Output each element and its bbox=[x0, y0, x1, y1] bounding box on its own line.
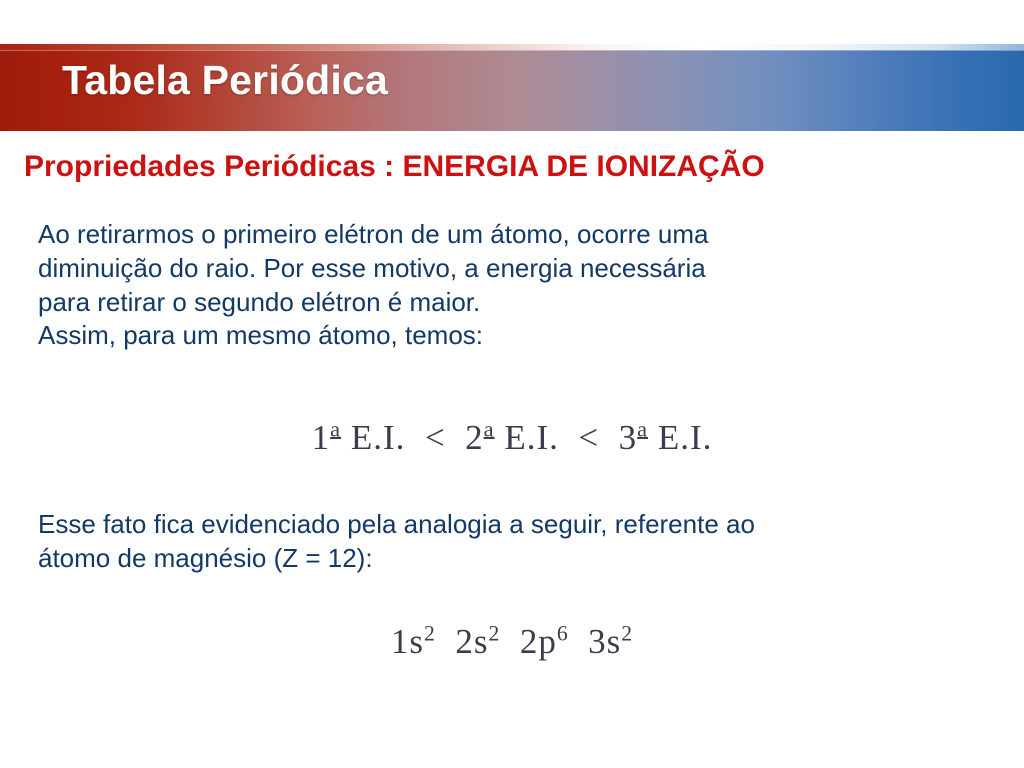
body-text-block-1: Ao retirarmos o primeiro elétron de um á… bbox=[38, 218, 988, 353]
orbital-4-base: 3s bbox=[588, 622, 621, 661]
paragraph-evidencia-line-2: átomo de magnésio (Z = 12): bbox=[38, 542, 988, 576]
ei-term-2-ordinal: a bbox=[484, 416, 495, 441]
paragraph-line-2: diminuição do raio. Por esse motivo, a e… bbox=[38, 252, 988, 286]
orbital-2-exponent: 2 bbox=[488, 621, 500, 645]
formula-ionization-energy: 1a E.I. < 2a E.I. < 3a E.I. bbox=[0, 418, 1024, 458]
slide-root: Tabela Periódica Propriedades Periódicas… bbox=[0, 0, 1024, 768]
orbital-3-exponent: 6 bbox=[557, 621, 569, 645]
ei-term-2-number: 2 bbox=[465, 418, 484, 457]
paragraph-assim: Assim, para um mesmo átomo, temos: bbox=[38, 319, 988, 353]
ei-operator-2: < bbox=[578, 418, 599, 457]
page-title: Tabela Periódica bbox=[62, 60, 388, 101]
ei-term-1-ordinal: a bbox=[330, 416, 341, 441]
orbital-1-exponent: 2 bbox=[424, 621, 436, 645]
ei-term-1-number: 1 bbox=[312, 418, 331, 457]
ei-term-1-label: E.I. bbox=[351, 418, 406, 457]
orbital-2-base: 2s bbox=[455, 622, 488, 661]
ei-term-3-label: E.I. bbox=[658, 418, 713, 457]
paragraph-evidencia-line-1: Esse fato fica evidenciado pela analogia… bbox=[38, 508, 988, 542]
paragraph-line-3: para retirar o segundo elétron é maior. bbox=[38, 286, 988, 320]
ei-term-3-ordinal: a bbox=[637, 416, 648, 441]
section-subtitle: Propriedades Periódicas : ENERGIA DE ION… bbox=[24, 150, 1012, 184]
orbital-1-base: 1s bbox=[391, 622, 424, 661]
orbital-4-exponent: 2 bbox=[621, 621, 633, 645]
ei-operator-1: < bbox=[425, 418, 446, 457]
body-text-block-2: Esse fato fica evidenciado pela analogia… bbox=[38, 508, 988, 576]
orbital-3-base: 2p bbox=[520, 622, 557, 661]
paragraph-line-1: Ao retirarmos o primeiro elétron de um á… bbox=[38, 218, 988, 252]
ei-term-2-label: E.I. bbox=[504, 418, 559, 457]
formula-electron-configuration: 1s2 2s2 2p6 3s2 bbox=[0, 622, 1024, 662]
ei-term-3-number: 3 bbox=[619, 418, 638, 457]
